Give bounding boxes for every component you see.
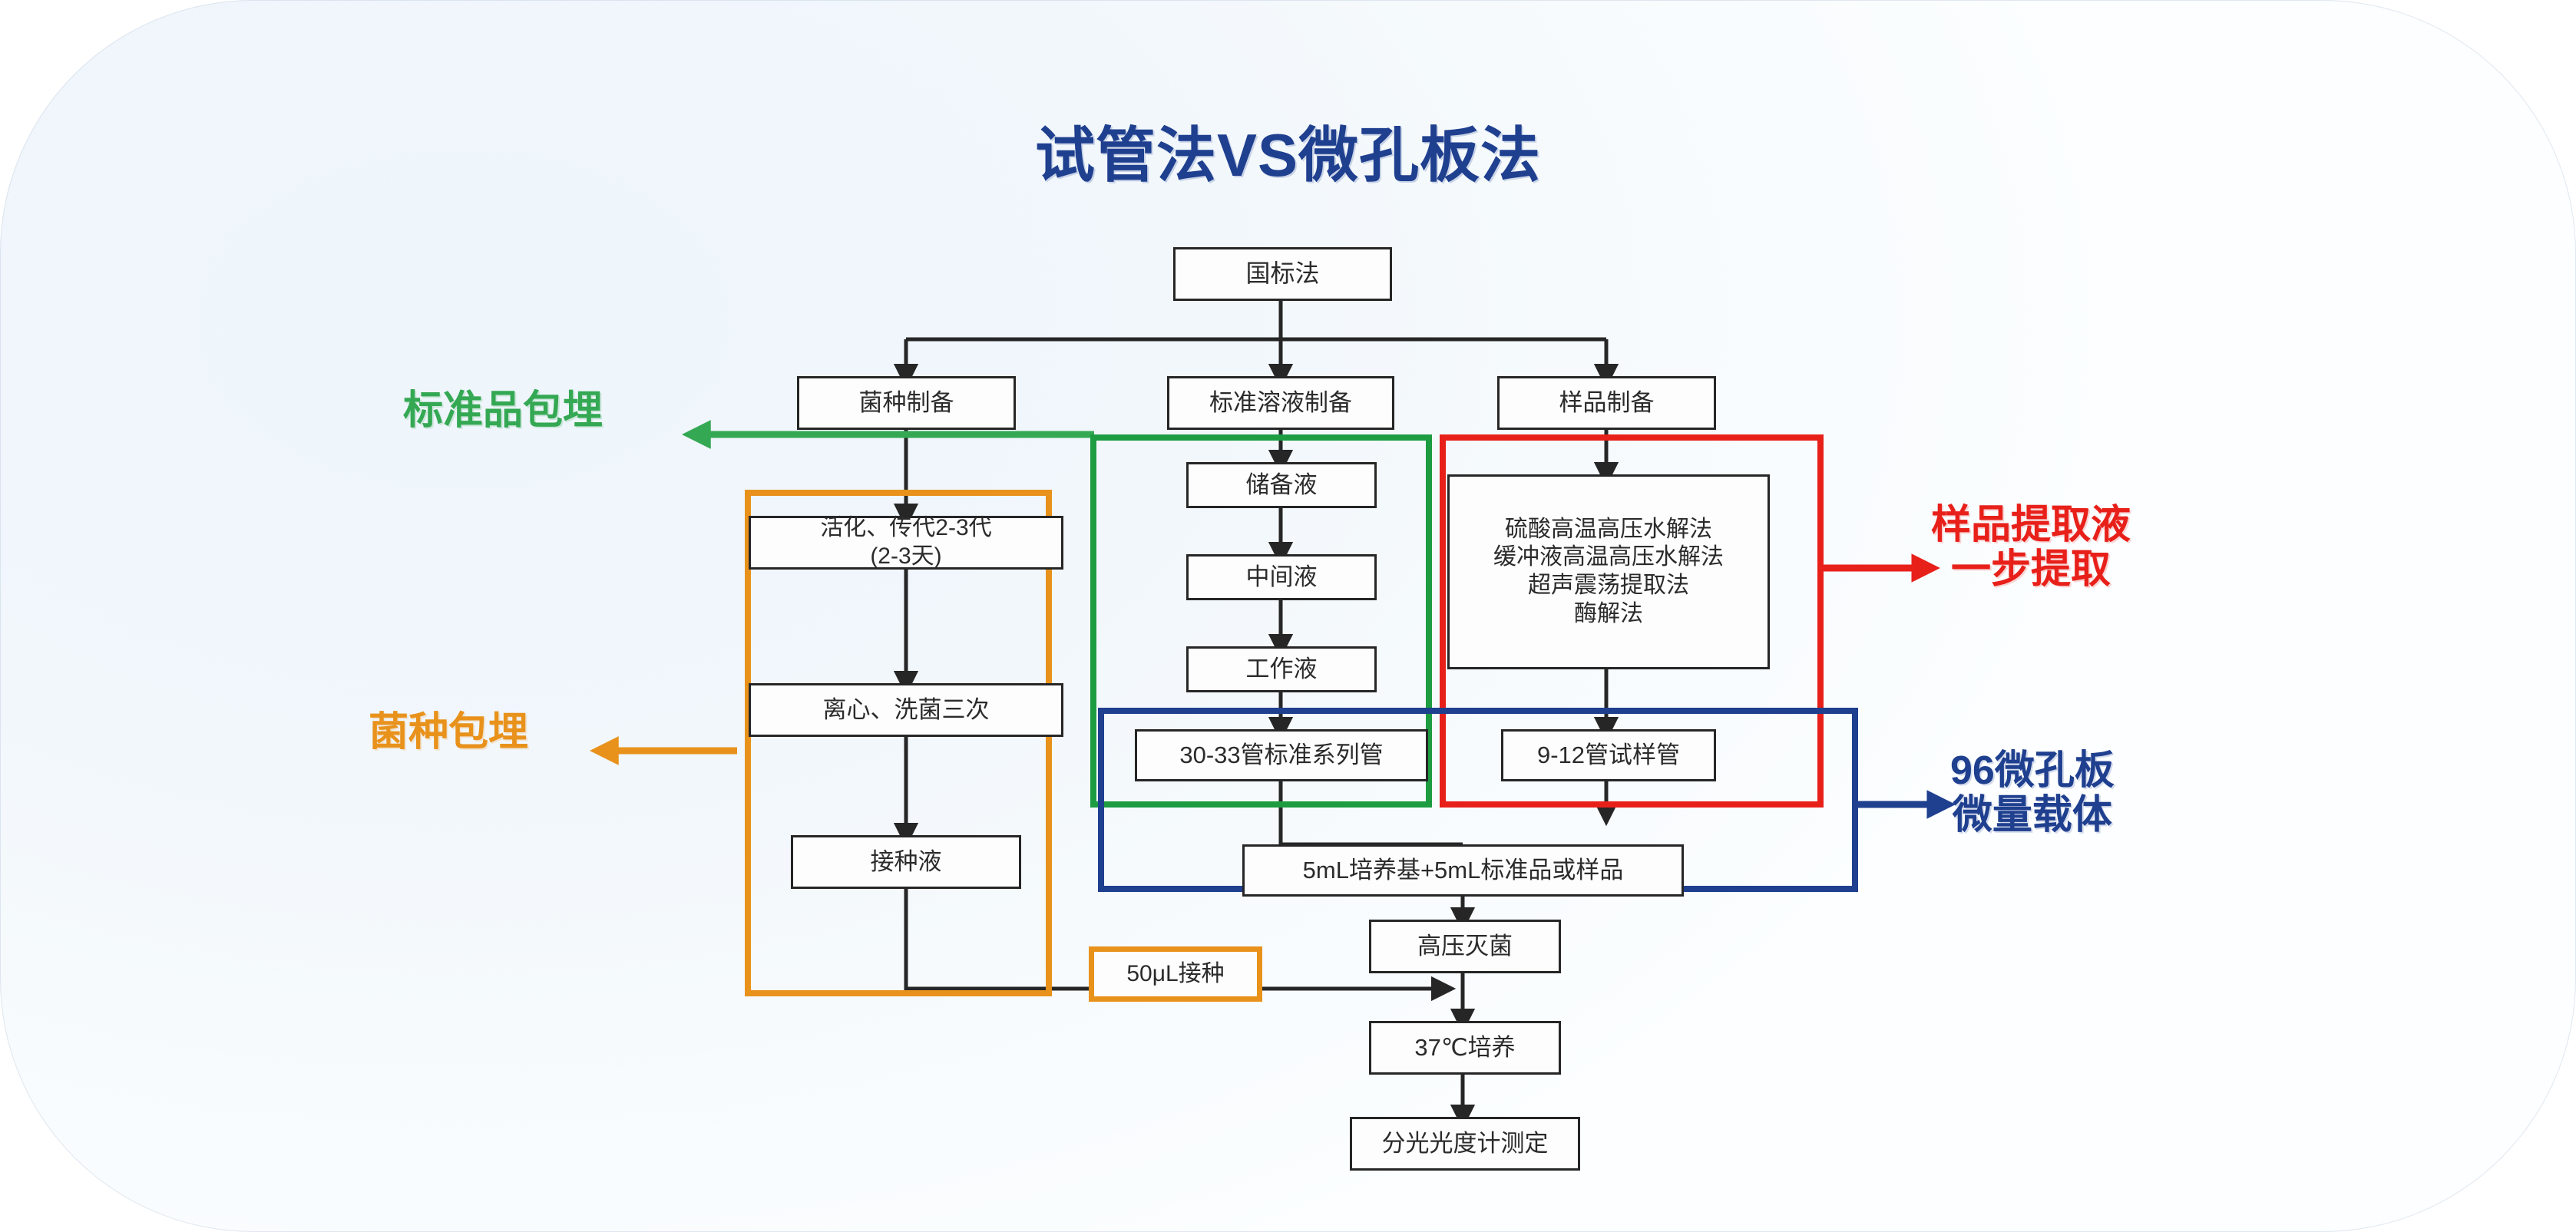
node-label: 30-33管标准系列管 bbox=[1179, 741, 1383, 770]
node-spectrophotometer-measure[interactable]: 分光光度计测定 bbox=[1350, 1117, 1580, 1171]
node-label: 5mL培养基+5mL标准品或样品 bbox=[1303, 856, 1624, 885]
node-label: 50μL接种 bbox=[1126, 960, 1224, 989]
node-medium-plus-sample[interactable]: 5mL培养基+5mL标准品或样品 bbox=[1242, 844, 1684, 897]
node-label: 中间液 bbox=[1246, 563, 1318, 592]
node-label: 菌种制备 bbox=[859, 388, 954, 418]
node-label: 国标法 bbox=[1245, 259, 1319, 289]
callout-sample-extract: 样品提取液 一步提取 bbox=[1931, 503, 2131, 592]
node-label: 离心、洗菌三次 bbox=[823, 695, 990, 725]
node-label: 接种液 bbox=[871, 847, 942, 877]
node-sample-tubes[interactable]: 9-12管试样管 bbox=[1501, 729, 1716, 781]
node-incubate-37c[interactable]: 37℃培养 bbox=[1369, 1021, 1561, 1075]
node-sample-preparation[interactable]: 样品制备 bbox=[1497, 376, 1716, 430]
node-working-solution[interactable]: 工作液 bbox=[1186, 646, 1377, 692]
node-label: 分光光度计测定 bbox=[1382, 1129, 1549, 1158]
callout-96-well-plate: 96微孔板 微量载体 bbox=[1950, 748, 2115, 837]
node-inoculum[interactable]: 接种液 bbox=[791, 835, 1021, 889]
node-label: 高压灭菌 bbox=[1417, 932, 1513, 961]
page-title: 试管法VS微孔板法 bbox=[0, 107, 2576, 193]
node-label: 9-12管试样管 bbox=[1537, 741, 1680, 770]
node-label: 储备液 bbox=[1246, 471, 1318, 500]
node-extraction-methods[interactable]: 硫酸高温高压水解法 缓冲液高温高压水解法 超声震荡提取法 酶解法 bbox=[1447, 474, 1770, 669]
node-label: 活化、传代2-3代 (2-3天) bbox=[820, 514, 991, 570]
node-label: 标准溶液制备 bbox=[1209, 388, 1352, 418]
callout-standard-embedding: 标准品包埋 bbox=[403, 388, 603, 433]
node-label: 样品制备 bbox=[1559, 388, 1655, 418]
node-label: 37℃培养 bbox=[1414, 1033, 1515, 1062]
node-standard-solution-preparation[interactable]: 标准溶液制备 bbox=[1167, 376, 1394, 430]
node-activation-passage[interactable]: 活化、传代2-3代 (2-3天) bbox=[749, 516, 1063, 570]
node-label: 工作液 bbox=[1246, 655, 1318, 684]
node-label: 硫酸高温高压水解法 缓冲液高温高压水解法 超声震荡提取法 酶解法 bbox=[1493, 516, 1724, 628]
node-centrifuge-wash[interactable]: 离心、洗菌三次 bbox=[749, 683, 1063, 737]
node-national-standard[interactable]: 国标法 bbox=[1173, 247, 1392, 301]
node-intermediate-solution[interactable]: 中间液 bbox=[1186, 554, 1377, 600]
node-standard-series-tubes[interactable]: 30-33管标准系列管 bbox=[1135, 729, 1428, 781]
node-strain-preparation[interactable]: 菌种制备 bbox=[797, 376, 1016, 430]
diagram-canvas: 国标法 菌种制备 标准溶液制备 样品制备 活化、传代2-3代 (2-3天) 离心… bbox=[0, 0, 2576, 1232]
callout-strain-embedding: 菌种包埋 bbox=[369, 710, 528, 755]
node-stock-solution[interactable]: 储备液 bbox=[1186, 462, 1377, 508]
node-autoclave-sterilize[interactable]: 高压灭菌 bbox=[1369, 920, 1561, 973]
node-inoculate-50ul[interactable]: 50μL接种 bbox=[1089, 946, 1262, 1002]
